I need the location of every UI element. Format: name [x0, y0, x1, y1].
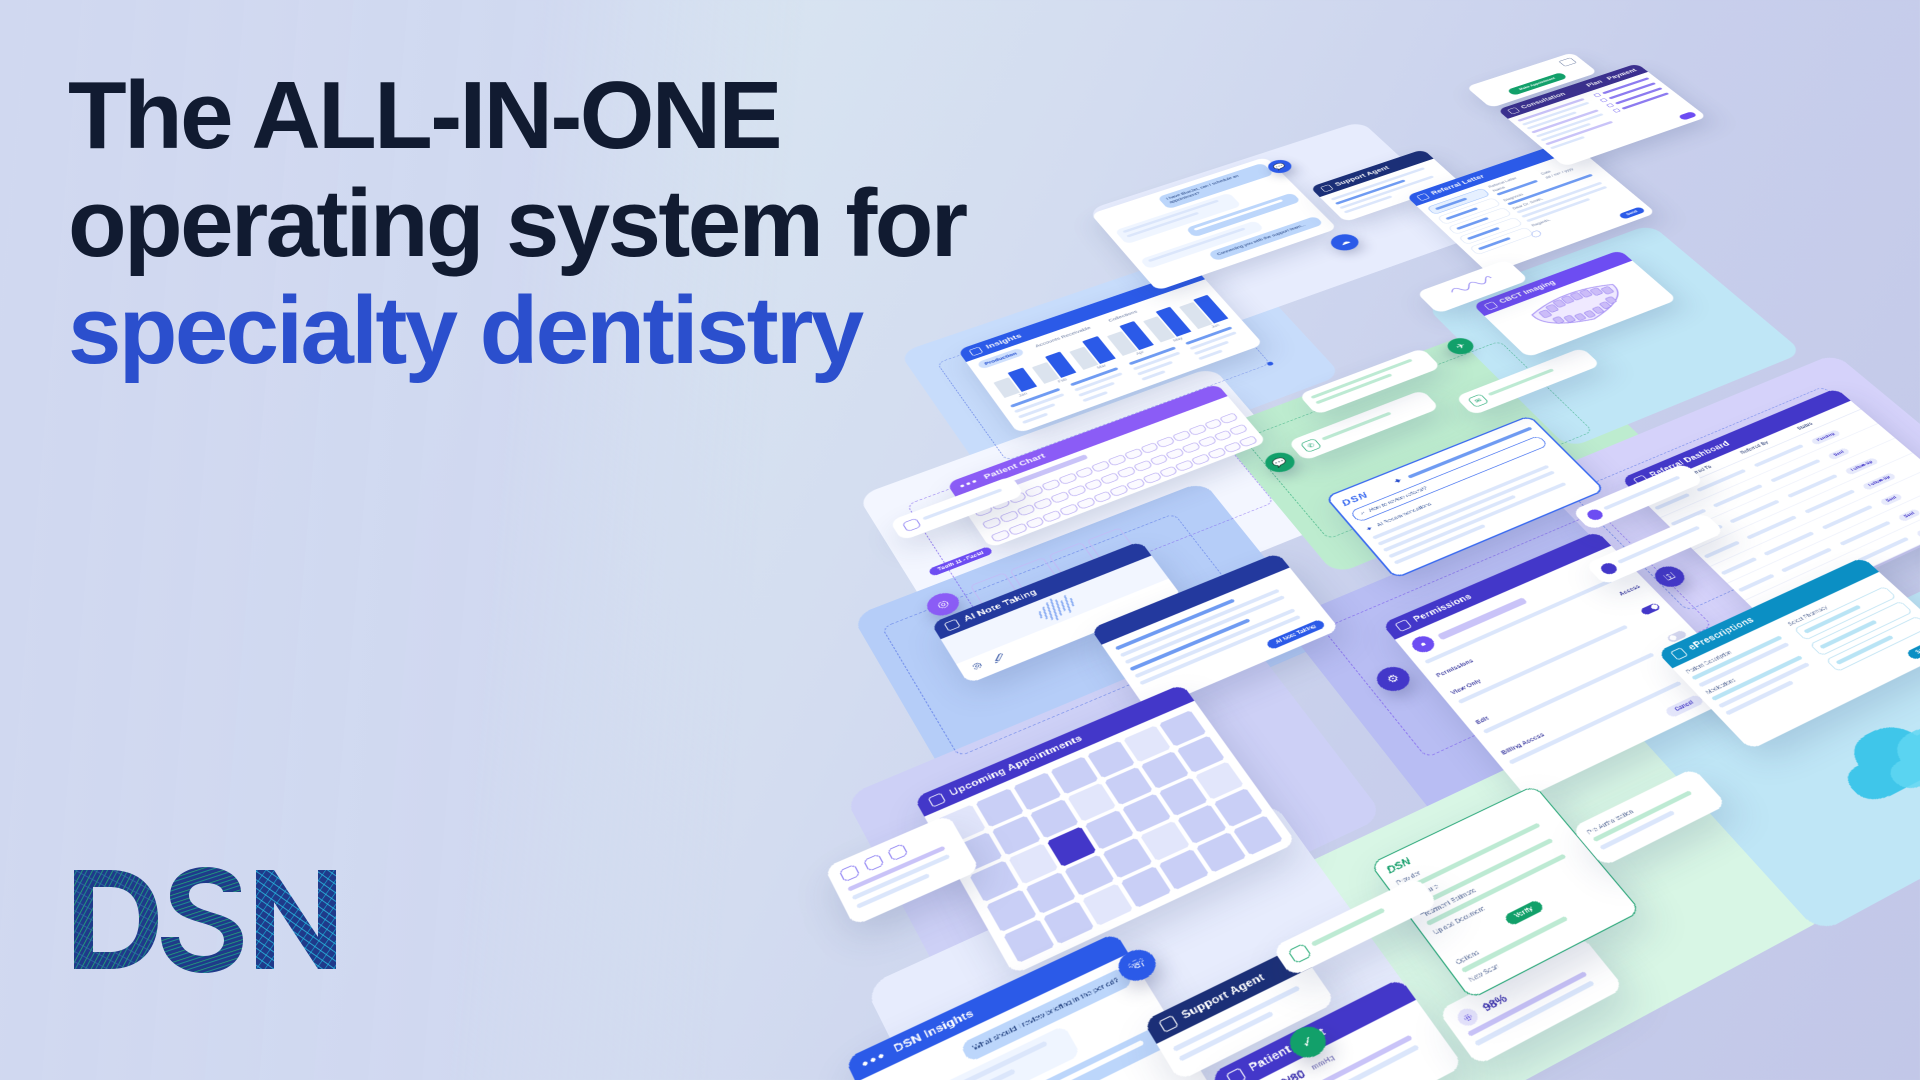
calendar-day-cell[interactable] [975, 788, 1024, 827]
card-comms-chat[interactable] [1298, 348, 1441, 415]
headset-icon [1158, 1014, 1179, 1032]
vitals-tertiary-body: ◎ 98% [1438, 936, 1625, 1066]
dsn-search-input[interactable]: ⌕ How to review referral? [1349, 435, 1548, 522]
permissions-label: Permissions [1435, 658, 1474, 678]
tooth-row-third[interactable] [981, 431, 1266, 549]
table-cell [1753, 521, 1829, 564]
card-ai-note-title: AI Note Taking [962, 588, 1039, 624]
connector-frame-note [881, 513, 1264, 757]
sparkle-icon: ✦ [1390, 475, 1406, 487]
cloud-upload-icon[interactable]: ☁ [1326, 231, 1364, 253]
card-patient-chart-title: Patient Chart [982, 452, 1047, 480]
chat-icon[interactable]: 💬 [1260, 449, 1300, 476]
make-appointment-body: Make Appointment [1466, 52, 1598, 108]
card-patient-chart-header: Patient Chart [946, 384, 1227, 497]
card-support-agent-title: Support Agent [1334, 165, 1391, 187]
bar-actual-apr [1119, 321, 1153, 350]
calendar-day-cell[interactable] [1064, 855, 1114, 897]
calendar-icon [928, 792, 946, 807]
card-vitals-secondary-title: Patient Chart [1247, 1026, 1328, 1074]
field-treatment-estimate: Treatment Estimate [1420, 840, 1573, 919]
referral-table-header: Case ID Referred To Referred By Status [1635, 401, 1861, 502]
col-referred-by: Referred By [1734, 426, 1801, 459]
card-comms-phone[interactable]: ✆ [1288, 390, 1440, 461]
card-cbct-thumb[interactable] [1416, 259, 1529, 313]
calendar-day-cell[interactable] [1214, 788, 1264, 827]
bar-group-may [1139, 307, 1191, 343]
permission-toggle-view-only[interactable] [1639, 602, 1661, 615]
card-dsn-insights-chat-title: DSN Insights [892, 1008, 976, 1055]
card-appointment-note[interactable] [824, 814, 980, 926]
field-medications: Medications [1705, 646, 1805, 696]
x-tick-jun: Jun [1199, 320, 1232, 333]
table-row[interactable]: Sent [1660, 424, 1895, 534]
vital-bp: ♡ 120/80 mmHg [1224, 1000, 1432, 1080]
slab-insights-backdrop [899, 243, 1342, 502]
table-cell [1727, 564, 1788, 601]
calendar-day-cell[interactable] [1102, 838, 1152, 879]
table-cell [1687, 459, 1761, 499]
card-ai-note-output-header [1090, 553, 1289, 645]
field-label-diagnosis: Diagnosis [1503, 168, 1597, 203]
card-eprescriptions-header: ePrescriptions [1657, 557, 1879, 668]
save-button[interactable]: Save [1703, 678, 1738, 699]
avatar [902, 518, 922, 532]
ai-note-waveform [941, 556, 1169, 665]
tooth-row-lower[interactable] [973, 419, 1257, 535]
card-patient-chart[interactable]: Patient Chart [946, 384, 1267, 549]
bar-actual-jun [1193, 295, 1228, 324]
calendar-day-cell[interactable] [1003, 919, 1055, 963]
card-referral-contact-a[interactable] [1571, 463, 1704, 531]
field-select-pharmacy: Select Pharmacy [1787, 580, 1883, 627]
table-cell-status: Sent [1817, 424, 1895, 465]
calendar-day-cell[interactable] [1050, 756, 1098, 794]
card-cbct-title: CBCT Imaging [1498, 279, 1558, 304]
table-cell [1703, 474, 1777, 515]
card-consultation-title: Consultation [1519, 91, 1567, 109]
card-cbct-imaging[interactable]: CBCT Imaging [1473, 250, 1678, 358]
search-icon: ⌕ [1359, 511, 1366, 517]
bar-group-feb [1024, 346, 1076, 383]
card-referral-letter-title: Referral Letter [1430, 174, 1487, 196]
card-dsn-insights-chat-header: DSN Insights [845, 932, 1129, 1080]
tab-plan[interactable]: Plan [1585, 79, 1605, 88]
patient-summary-body [889, 476, 1024, 541]
field-patient-description: Patient Description [1685, 626, 1785, 675]
card-insights-title: Insights [985, 333, 1024, 350]
calendar-day-cell[interactable] [1195, 761, 1244, 799]
dsn-insights-chat-body: What should I review briefing in the per… [856, 953, 1214, 1080]
calendar-day-cell[interactable] [937, 804, 986, 844]
card-eprescriptions-title: ePrescriptions [1686, 616, 1756, 653]
chat-message-user: I have BlueJet, can I schedule an appoin… [1157, 163, 1274, 209]
referral-contact-b-body [1585, 512, 1725, 585]
permission-label-view-only: View Only [1450, 679, 1483, 696]
insurance-brand: DSN [1385, 796, 1539, 876]
note-icon [887, 843, 909, 861]
chat-message-agent: Connecting you with the support team... [1208, 216, 1324, 262]
permission-toggle-billing[interactable] [1693, 657, 1715, 671]
slab-vitals-backdrop [864, 801, 1443, 1080]
dsn-brand: DSN [1339, 490, 1371, 508]
tooth-facial-button-wrap[interactable]: Tooth 11 - Facial [926, 543, 994, 577]
bar-goal-feb [1032, 362, 1060, 384]
insurance-status-body [1272, 877, 1439, 978]
table-cell [1710, 547, 1770, 583]
table-cell [1811, 495, 1886, 537]
send-rx-button[interactable]: Send Rx [1905, 636, 1920, 661]
card-eprescriptions[interactable]: ePrescriptions Patient Description Medic… [1657, 557, 1920, 750]
card-appointments-header: Upcoming Appointments [914, 684, 1195, 817]
card-insights[interactable]: Insights Production Accounts Receivable … [957, 268, 1263, 433]
referral-letter-form: Referral Letter Name Datedd / mm / yyyy … [1488, 155, 1646, 245]
calendar-day-cell[interactable] [1140, 821, 1190, 861]
table-cell [1677, 515, 1736, 550]
calendar-day-cell[interactable] [1177, 804, 1227, 844]
calendar-day-cell[interactable] [1030, 799, 1079, 839]
letter-heading: Referral Letter [1488, 155, 1581, 189]
calendar-day-cell[interactable] [1104, 767, 1153, 805]
letter-salutation: Dear Dr. Smith, [1512, 175, 1606, 210]
ai-note-toolbar[interactable]: ◎ 🖉 [956, 579, 1182, 684]
calendar-day-cell[interactable] [1233, 815, 1283, 855]
comms-chat-body [1298, 348, 1441, 415]
record-icon[interactable]: ◎ [970, 660, 987, 676]
permission-row-view-only[interactable]: View Only [1434, 588, 1679, 715]
referral-contact-a-body [1571, 463, 1704, 531]
card-make-appointment[interactable]: Make Appointment [1466, 52, 1598, 108]
calendar-day-cell[interactable] [992, 815, 1041, 855]
table-row[interactable]: Follow-Up [1693, 453, 1920, 567]
x-tick-mar: Mar [1085, 360, 1119, 374]
card-ai-note-output[interactable]: AI Note Taking [1090, 553, 1339, 712]
tab-accounts-receivable[interactable]: Accounts Receivable [1027, 322, 1098, 352]
x-tick-may: May [1162, 333, 1195, 347]
calendar-day-cell[interactable] [1159, 777, 1208, 816]
waveform-icon [1428, 266, 1516, 304]
card-insurance-check[interactable]: DSN Provider Procedure Treatment Estimat… [1369, 785, 1641, 1000]
table-row[interactable]: Pending [1644, 409, 1878, 517]
gear-icon[interactable]: ⚙ [1371, 663, 1416, 696]
jaw-scan-illustration [1512, 273, 1649, 343]
card-ai-note-taking[interactable]: AI Note Taking ◎ 🖉 [931, 541, 1183, 684]
attach-icon[interactable]: 🖉 [990, 651, 1009, 667]
card-vitals-secondary-header: Patient Chart [1210, 978, 1416, 1080]
connector-frame-referral [1570, 386, 1920, 611]
table-cell-status: Pending [1800, 409, 1877, 450]
dsn-assistant-header: DSN ✦ [1327, 417, 1542, 511]
mail-icon: ✉ [1467, 394, 1489, 408]
dsn-assistant-results: ✦ AI Recommendations [1355, 446, 1603, 577]
permission-toggle-edit[interactable] [1666, 629, 1688, 643]
access-label: Access [1618, 584, 1641, 597]
bar-actual-jan [1008, 367, 1038, 392]
person-icon [839, 864, 861, 882]
chat-bubble-icon[interactable]: 💬 [1264, 158, 1296, 176]
support-agent-body [1320, 159, 1460, 222]
make-appointment-button[interactable]: Make Appointment [1506, 72, 1568, 96]
shield-check-icon [1287, 943, 1312, 964]
calendar-day-cell[interactable] [1196, 832, 1247, 873]
letter-signoff: Regards, [1531, 192, 1626, 228]
card-patient-summary[interactable] [889, 476, 1024, 541]
table-cell-status: Sent [1887, 483, 1920, 527]
slab-permissions-backdrop [1282, 476, 1804, 821]
slab-calendar-backdrop [844, 630, 1384, 1015]
insights-summary-grid [998, 319, 1264, 433]
x-tick-feb: Feb [1046, 374, 1080, 388]
eprescriptions-body: Patient Description Medications Select P… [1672, 572, 1920, 732]
insights-x-axis: JanFebMarAprMayJun [995, 315, 1241, 406]
appointment-note-body [824, 814, 980, 926]
camera-icon[interactable]: ◎ [922, 589, 963, 620]
support-agent-2-body [1157, 967, 1337, 1080]
table-cell-status: Follow-Up [1851, 453, 1920, 495]
bar-goal-jan [993, 377, 1020, 398]
card-referral-letter-header: Referral Letter [1406, 140, 1580, 206]
card-support-agent[interactable]: Support Agent [1310, 149, 1460, 222]
table-cell [1719, 490, 1794, 531]
card-cbct-header: CBCT Imaging [1473, 250, 1633, 316]
table-cell [1847, 527, 1920, 570]
send-message-icon[interactable]: ✈ [1445, 336, 1476, 355]
field-label-name: Name [1492, 175, 1538, 193]
col-referred-to: Referred To [1677, 450, 1744, 483]
bar-group-apr [1102, 320, 1154, 356]
calendar-day-cell[interactable] [1043, 901, 1094, 944]
card-vitals-secondary[interactable]: Patient Chart ♡ 120/80 mmHg 🌡 98.6 °F [1210, 978, 1464, 1080]
card-support-agent-header: Support Agent [1310, 149, 1434, 197]
vital-bp-value: 120/80 [1265, 1068, 1308, 1080]
calendar-day-cell[interactable] [1177, 736, 1225, 773]
table-row[interactable]: Follow-Up [1677, 438, 1913, 550]
bar-actual-mar [1082, 336, 1115, 364]
new-scan-label: New Scan [1468, 901, 1624, 984]
calendar-plus-icon [1558, 58, 1577, 67]
slab-patientchart-backdrop [857, 367, 1343, 672]
insights-tabs[interactable]: Production Accounts Receivable Collectio… [966, 279, 1215, 374]
connector-frame-permissions [1322, 511, 1713, 759]
key-icon[interactable]: ⚿ [1649, 563, 1690, 591]
chat-message-query: What should I review briefing in the per… [960, 967, 1134, 1063]
table-cell [1794, 480, 1869, 521]
calendar-day-cell[interactable] [986, 889, 1037, 932]
headset-support-icon[interactable]: ☏ [1112, 944, 1161, 986]
card-referral-dashboard[interactable]: Referral Dashboard Case ID Referred To R… [1621, 388, 1920, 618]
headline-line-3: specialty dentistry [68, 277, 948, 385]
card-support-chat[interactable]: I have BlueJet, can I schedule an appoin… [1091, 157, 1338, 291]
calendar-day-cell[interactable] [1067, 783, 1116, 822]
status-badge: Sent [1827, 447, 1851, 460]
ai-note-output-body: AI Note Taking [1102, 568, 1340, 712]
pill-icon [1670, 647, 1688, 660]
check-icon[interactable]: ✓ [1284, 1021, 1333, 1063]
phone-icon: ✆ [1300, 438, 1322, 453]
status-badge: Sent [1897, 508, 1920, 522]
card-support-agent-2-title: Support Agent [1179, 972, 1267, 1022]
connector-frame-comms [1243, 341, 1594, 540]
bar-goal-mar [1069, 346, 1098, 369]
tooth-row-upper[interactable] [964, 408, 1247, 523]
calendar-day-cell[interactable] [1123, 725, 1171, 762]
calendar-day-cell[interactable] [1047, 826, 1097, 867]
referral-table[interactable]: Case ID Referred To Referred By Status P… [1635, 401, 1920, 618]
vital-temp: 🌡 98.6 °F [1253, 1042, 1464, 1080]
card-permissions-header: Permissions [1382, 531, 1612, 639]
card-permissions-title: Permissions [1411, 592, 1474, 624]
table-cell [1693, 531, 1753, 567]
tab-collections[interactable]: Collections [1101, 306, 1145, 326]
cbct-thumb-body [1416, 259, 1529, 313]
cloud-sync-illustration [1788, 668, 1920, 840]
calendar-day-cell[interactable] [1013, 772, 1061, 811]
calendar-day-cell[interactable] [1159, 849, 1210, 890]
oxygen-icon: ◎ [1454, 1006, 1482, 1029]
dsn-logo [66, 862, 344, 977]
x-tick-apr: Apr [1124, 346, 1157, 360]
slab-insurance-backdrop [1276, 707, 1830, 1080]
permissions-section-head: Permissions Access [1424, 577, 1653, 686]
calendar-day-cell[interactable] [1122, 793, 1171, 832]
card-referral-contact-b[interactable] [1585, 512, 1725, 585]
calendar-day-cell[interactable] [1141, 751, 1189, 789]
field-procedure: Procedure [1408, 825, 1561, 903]
cancel-button[interactable]: Cancel [1664, 694, 1705, 718]
verify-button[interactable]: Verify [1503, 899, 1545, 926]
table-row[interactable]: Sent [1710, 468, 1920, 583]
cloud-icon [1788, 668, 1920, 836]
calendar-day-cell[interactable] [1087, 741, 1135, 779]
card-comms-mail[interactable]: ✉ [1455, 347, 1601, 415]
card-vitals-tertiary[interactable]: ◎ 98% [1438, 936, 1625, 1066]
card-support-agent-2[interactable]: Support Agent [1143, 946, 1336, 1080]
table-cell [1829, 511, 1905, 554]
card-dsn-assistant[interactable]: DSN ✦ ⌕ How to review referral? ✦ AI Rec… [1325, 415, 1606, 579]
comms-phone-body: ✆ [1288, 390, 1440, 461]
table-row[interactable]: Sent [1727, 483, 1920, 600]
permission-label-edit: Edit [1475, 716, 1490, 726]
slab-cbct-backdrop [1426, 224, 1804, 449]
chart-thumbnail-grid[interactable] [970, 527, 1154, 634]
connector-dot [1266, 361, 1274, 366]
card-consultation[interactable]: Consultation Plan Payment [1497, 63, 1707, 166]
calendar-day-cell[interactable] [1008, 843, 1058, 884]
chart-bar-icon [968, 346, 983, 356]
clipboard-icon [1507, 107, 1520, 114]
headline-line-1: The ALL-IN-ONE [68, 62, 948, 170]
card-referral-dashboard-header: Referral Dashboard [1621, 388, 1851, 492]
referral-letter-sidebar[interactable] [1426, 188, 1548, 268]
card-permissions[interactable]: Permissions ● Permissions Access View On… [1382, 531, 1753, 797]
sparkle-small-icon: ✦ [1364, 525, 1375, 534]
card-referral-dashboard-title: Referral Dashboard [1648, 440, 1732, 479]
field-provider: Provider [1395, 810, 1547, 887]
share-icon [1632, 474, 1649, 485]
cbct-scan-preview [1484, 261, 1677, 358]
table-cell [1744, 435, 1817, 474]
calendar-day-cell[interactable] [1159, 710, 1207, 746]
card-upcoming-appointments[interactable]: Upcoming Appointments [914, 684, 1297, 975]
referral-letter-body: Referral Letter Name Datedd / mm / yyyy … [1417, 149, 1656, 274]
slab-comms-backdrop [1214, 316, 1649, 575]
calendar-day-cell[interactable] [1082, 883, 1133, 926]
headline-line-2: operating system for [68, 170, 948, 278]
consultation-confirm-button[interactable] [1678, 111, 1698, 120]
table-cell [1644, 484, 1703, 518]
table-cell [1736, 505, 1811, 547]
tab-payment[interactable]: Payment [1605, 68, 1638, 81]
card-preauthorization[interactable]: Pre-Authorization [1571, 768, 1727, 867]
x-tick-jan: Jan [1006, 388, 1041, 403]
col-case-id: Case ID [1635, 475, 1687, 502]
vital-bp-unit: mmHg [1311, 1055, 1337, 1072]
avatar: ● [1408, 633, 1438, 655]
bar-goal-may [1143, 316, 1175, 342]
calendar-day-cell[interactable] [1121, 866, 1172, 908]
table-row[interactable]: Pending [1745, 498, 1920, 617]
bar-group-mar [1063, 333, 1115, 370]
card-appointments-title: Upcoming Appointments [948, 734, 1084, 798]
table-cell-status: Follow-Up [1834, 438, 1912, 480]
slab-cloud-backdrop [1633, 578, 1920, 933]
slab-referral-backdrop [1534, 353, 1920, 649]
tooth-icon [1225, 1067, 1246, 1080]
clock-icon [863, 854, 885, 872]
dsn-search-value: How to review referral? [1368, 486, 1429, 513]
bar-group-jun [1177, 294, 1229, 329]
status-badge: Pending [1810, 429, 1841, 445]
avatar [1585, 508, 1606, 522]
card-insurance-status[interactable] [1272, 877, 1439, 978]
bar-actual-may [1155, 307, 1191, 337]
card-ai-note-header: AI Note Taking [931, 541, 1152, 639]
insurance-check-body: DSN Provider Procedure Treatment Estimat… [1371, 786, 1640, 998]
card-dsn-insights-chat[interactable]: DSN Insights What should I review briefi… [845, 932, 1214, 1080]
calendar-day-cell[interactable] [969, 860, 1019, 902]
scan-icon [1483, 301, 1498, 310]
dsn-result-label: AI Recommendations [1376, 502, 1433, 528]
tooth-facial-button[interactable]: Tooth 11 - Facial [928, 546, 994, 577]
table-cell [1660, 499, 1719, 533]
tab-production[interactable]: Production [977, 348, 1025, 370]
card-support-agent-2-header: Support Agent [1143, 946, 1312, 1044]
options-label: Options [1455, 884, 1610, 966]
permission-row-billing[interactable]: Billing Access [1484, 643, 1734, 778]
status-badge: Follow-Up [1844, 457, 1879, 475]
permission-row-edit[interactable]: Edit [1458, 615, 1706, 746]
status-badge: Sent [1879, 493, 1903, 506]
calendar-day-cell[interactable] [1025, 872, 1076, 914]
consultation-body [1508, 72, 1695, 157]
table-cell [1788, 554, 1865, 598]
signature: ⃝ [1535, 196, 1635, 237]
card-referral-letter[interactable]: Referral Letter Referral Letter Name Dat… [1406, 140, 1656, 274]
field-value-date: dd / mm / yyyy [1545, 162, 1590, 179]
bar-actual-feb [1045, 352, 1076, 378]
table-cell-status: Pending [1905, 498, 1920, 543]
status-badge: Follow-Up [1862, 472, 1897, 490]
table-cell [1771, 537, 1847, 580]
appointments-calendar-grid[interactable] [924, 701, 1296, 975]
calendar-day-cell[interactable] [1085, 810, 1135, 850]
send-button[interactable]: Send [1618, 206, 1646, 219]
vital-spo2-value: 98% [1480, 992, 1509, 1013]
microphone-icon [943, 618, 960, 631]
card-insights-header: Insights [957, 268, 1205, 362]
ai-note-action-button[interactable]: AI Note Taking [1265, 619, 1326, 650]
calendar-day-cell[interactable] [953, 832, 1002, 873]
